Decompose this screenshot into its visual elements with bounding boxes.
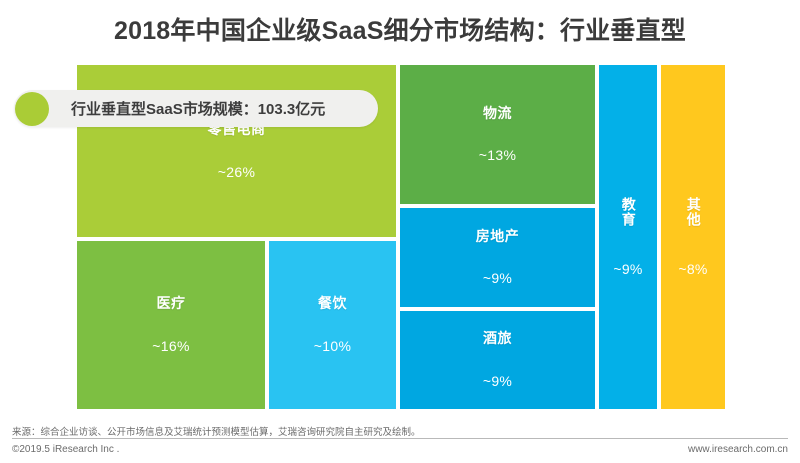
- tile-label: 餐饮: [318, 296, 347, 311]
- footer-divider: [12, 438, 788, 439]
- tile-value: ~10%: [314, 338, 351, 354]
- copyright-notice: ©2019.5 iResearch Inc .: [12, 444, 119, 455]
- treemap-tile-education[interactable]: 教育 ~9%: [597, 63, 659, 411]
- page-title: 2018年中国企业级SaaS细分市场结构：行业垂直型: [0, 11, 800, 47]
- treemap-tile-medical[interactable]: 医疗 ~16%: [75, 239, 267, 411]
- tile-value: ~16%: [152, 338, 189, 354]
- tile-label: 其他: [685, 197, 700, 227]
- tile-label: 医疗: [157, 296, 186, 311]
- treemap-tile-logistics[interactable]: 物流 ~13%: [398, 63, 597, 206]
- tile-value: ~9%: [613, 261, 642, 277]
- treemap-tile-catering[interactable]: 餐饮 ~10%: [267, 239, 398, 411]
- treemap-tile-real-estate[interactable]: 房地产 ~9%: [398, 206, 597, 309]
- treemap-tile-hotel-travel[interactable]: 酒旅 ~9%: [398, 309, 597, 411]
- tile-value: ~9%: [483, 373, 512, 389]
- tile-value: ~26%: [218, 164, 255, 180]
- tile-label: 房地产: [476, 229, 520, 244]
- tile-value: ~9%: [483, 270, 512, 286]
- tile-value: ~13%: [479, 147, 516, 163]
- legend-marker-icon: [15, 92, 49, 126]
- treemap-tile-other[interactable]: 其他 ~8%: [659, 63, 727, 411]
- tile-value: ~8%: [678, 261, 707, 277]
- website-url[interactable]: www.iresearch.com.cn: [688, 444, 788, 455]
- tile-label: 物流: [483, 106, 512, 121]
- legend: 行业垂直型SaaS市场规模：103.3亿元: [14, 90, 378, 127]
- legend-label: 行业垂直型SaaS市场规模：103.3亿元: [71, 98, 325, 119]
- source-note: 来源：综合企业访谈、公开市场信息及艾瑞统计预测模型估算，艾瑞咨询研究院自主研究及…: [12, 424, 421, 438]
- tile-label: 教育: [620, 197, 635, 227]
- tile-label: 酒旅: [483, 331, 512, 346]
